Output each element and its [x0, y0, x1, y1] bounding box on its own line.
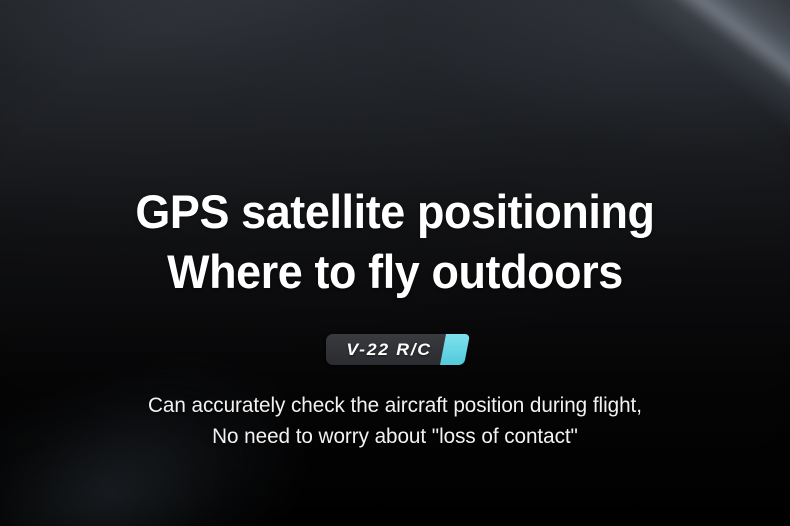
subtitle-line-2: No need to worry about "loss of contact": [6, 421, 784, 452]
subtitle: Can accurately check the aircraft positi…: [6, 390, 784, 452]
headline-line-1: GPS satellite positioning: [18, 182, 772, 242]
subtitle-line-1: Can accurately check the aircraft positi…: [6, 390, 784, 421]
headline-line-2: Where to fly outdoors: [18, 242, 772, 302]
banner-content: GPS satellite positioning Where to fly o…: [0, 0, 790, 526]
model-badge-wrapper: V-22 R/C: [0, 334, 790, 365]
model-badge: V-22 R/C: [326, 334, 464, 365]
model-badge-accent-bar: [440, 334, 470, 365]
model-badge-label: V-22 R/C: [346, 341, 431, 358]
product-banner: GPS satellite positioning Where to fly o…: [0, 0, 790, 526]
headline: GPS satellite positioning Where to fly o…: [18, 182, 772, 302]
